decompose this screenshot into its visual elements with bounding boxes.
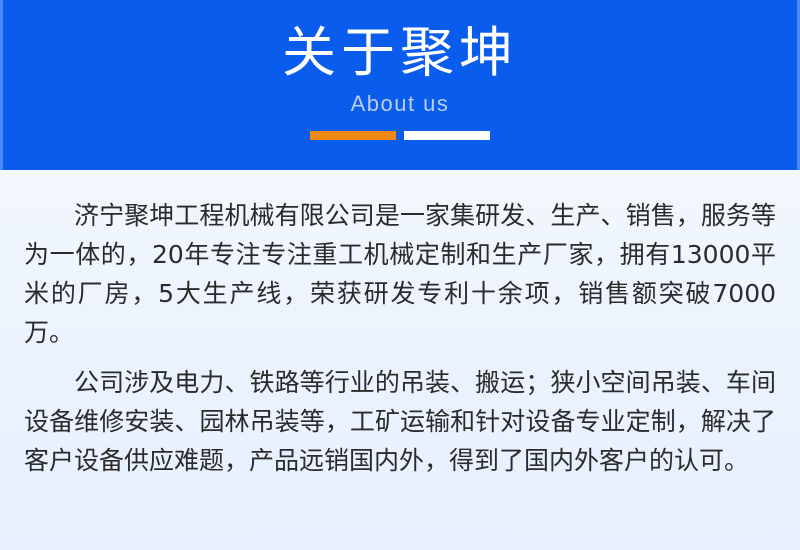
divider-plain-bar <box>404 131 490 140</box>
divider-accent-bar <box>310 131 396 140</box>
page-header-banner: 关于聚坤 About us <box>0 0 800 170</box>
title-divider <box>310 131 490 140</box>
about-paragraph-1: 济宁聚坤工程机械有限公司是一家集研发、生产、销售，服务等为一体的，20年专注专注… <box>24 196 776 352</box>
header-left-edge-line <box>0 0 3 170</box>
page-title: 关于聚坤 <box>282 22 518 84</box>
about-us-page: 关于聚坤 About us 济宁聚坤工程机械有限公司是一家集研发、生产、销售，服… <box>0 0 800 550</box>
about-us-body: 济宁聚坤工程机械有限公司是一家集研发、生产、销售，服务等为一体的，20年专注专注… <box>0 170 800 480</box>
about-paragraph-2: 公司涉及电力、铁路等行业的吊装、搬运；狭小空间吊装、车间设备维修安装、园林吊装等… <box>24 363 776 480</box>
page-subtitle: About us <box>351 90 450 118</box>
